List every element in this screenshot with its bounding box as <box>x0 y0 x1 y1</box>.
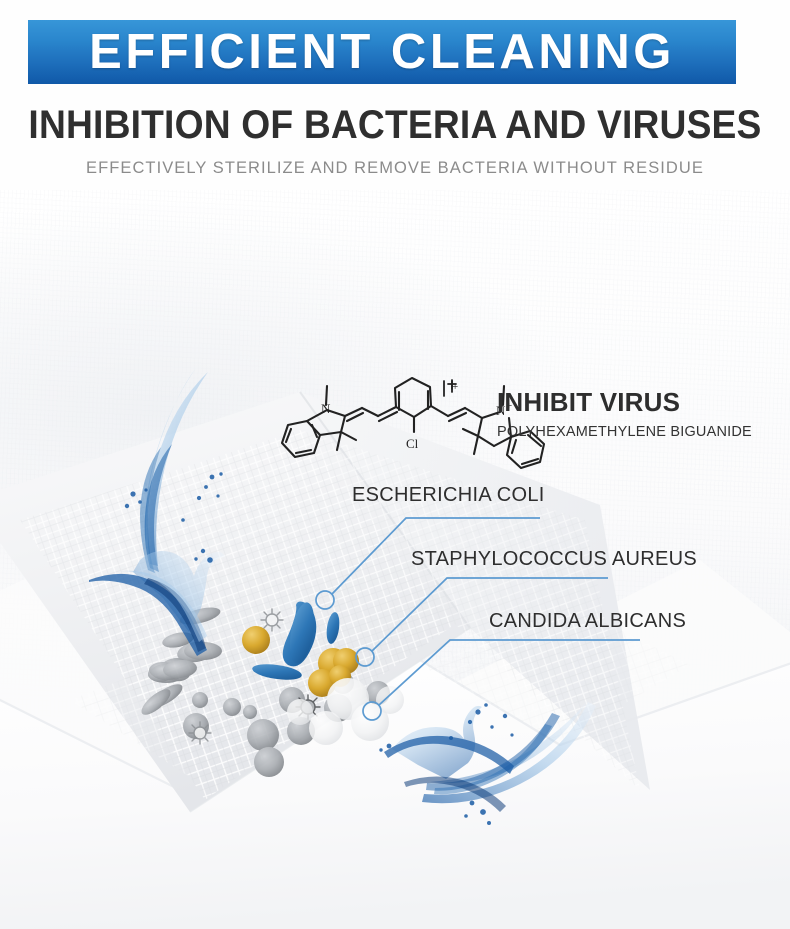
callout-inhibit-virus-subtitle: POLYHEXAMETHYLENE BIGUANIDE <box>497 424 752 440</box>
promo-graphic-page: EFFICIENT CLEANING INHIBITION OF BACTERI… <box>0 0 790 929</box>
nonwoven-wipe <box>0 392 790 929</box>
atom-label-Cl: Cl <box>406 436 419 451</box>
illustration-scene: N Cl N <box>0 0 790 929</box>
charge-label-plus-center: + <box>452 381 458 393</box>
callout-label-escherichia-coli: ESCHERICHIA COLI <box>352 484 545 507</box>
callout-inhibit-virus-title: INHIBIT VIRUS <box>497 387 680 418</box>
callout-label-staphylococcus-aureus: STAPHYLOCOCCUS AUREUS <box>411 548 697 571</box>
callout-label-candida-albicans: CANDIDA ALBICANS <box>489 610 686 633</box>
